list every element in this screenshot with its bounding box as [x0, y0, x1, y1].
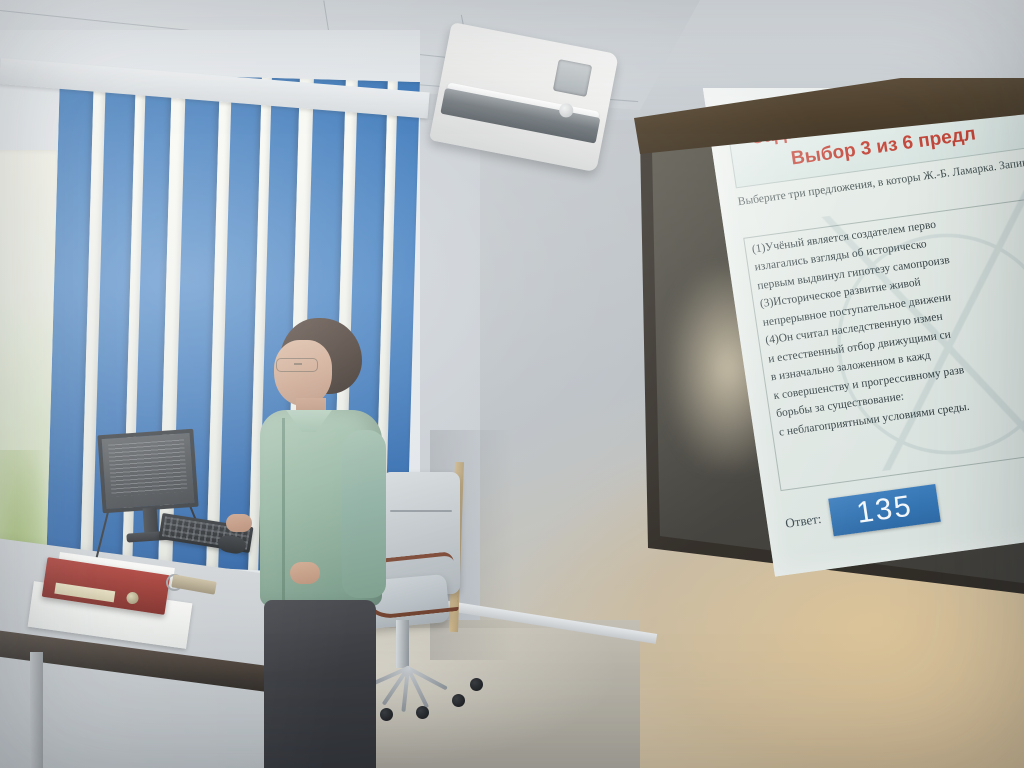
answer-label: Ответ: — [784, 511, 822, 532]
hand — [290, 562, 320, 584]
glasses-icon — [276, 358, 318, 372]
button-placket — [282, 418, 285, 600]
trousers — [264, 600, 376, 768]
arm — [342, 430, 386, 598]
monitor-screen-content — [108, 439, 187, 496]
classroom-photo: Демовер Задание № 17. Эволю Выбор 3 из 6… — [0, 0, 1024, 768]
presentation-slide[interactable]: Демовер Задание № 17. Эволю Выбор 3 из 6… — [702, 88, 1024, 577]
answer-value-box: 135 — [828, 484, 941, 536]
binder-label — [54, 583, 115, 603]
presenter — [238, 318, 398, 768]
chair-seam — [390, 510, 452, 512]
chair-caster — [416, 706, 429, 719]
chair-caster — [470, 678, 483, 691]
computer-monitor[interactable] — [97, 429, 198, 514]
chair-caster — [452, 694, 465, 707]
binder-ring — [126, 591, 140, 605]
face — [274, 340, 332, 406]
slide-watermark — [813, 187, 1024, 475]
ac-display-panel — [553, 59, 592, 97]
monitor-screen[interactable] — [97, 429, 198, 514]
slide-viewport: Демовер Задание № 17. Эволю Выбор 3 из 6… — [630, 88, 1024, 588]
desk-leg — [30, 652, 43, 768]
hand — [226, 514, 252, 532]
monitor-stand-neck — [143, 507, 159, 534]
